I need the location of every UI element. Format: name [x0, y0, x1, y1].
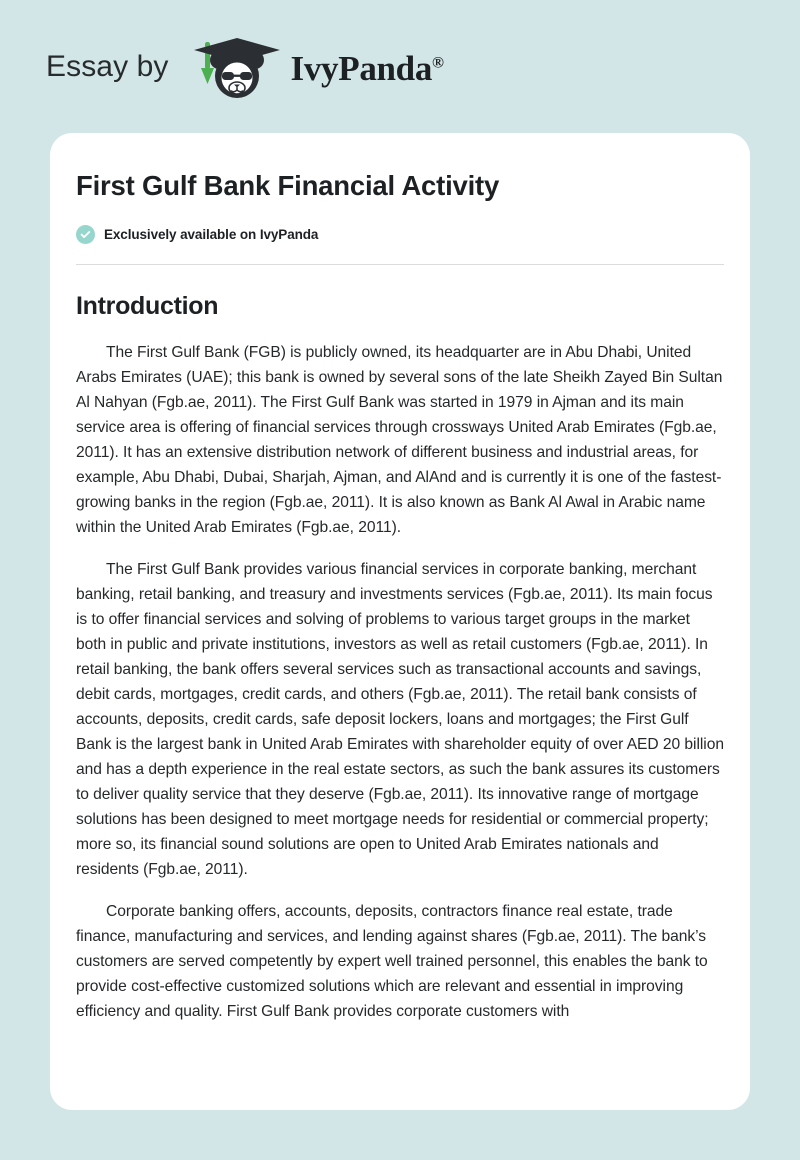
ivypanda-logo[interactable]: IvyPanda® [185, 34, 444, 100]
exclusive-availability-label: Exclusively available on IvyPanda [104, 227, 318, 242]
essay-by-label: Essay by [46, 52, 169, 82]
section-heading-introduction: Introduction [76, 291, 724, 321]
ivypanda-wordmark: IvyPanda® [291, 51, 444, 86]
essay-body: The First Gulf Bank (FGB) is publicly ow… [76, 340, 724, 1024]
header-divider [76, 264, 724, 265]
paragraph: The First Gulf Bank (FGB) is publicly ow… [76, 340, 724, 540]
registered-trademark-symbol: ® [432, 54, 444, 71]
paragraph: Corporate banking offers, accounts, depo… [76, 899, 724, 1024]
paragraph: The First Gulf Bank provides various fin… [76, 557, 724, 882]
page-title: First Gulf Bank Financial Activity [76, 169, 724, 203]
essay-paper-card: First Gulf Bank Financial Activity Exclu… [50, 133, 750, 1110]
exclusive-availability-badge: Exclusively available on IvyPanda [76, 225, 724, 244]
brand-name-text: IvyPanda [291, 49, 433, 88]
panda-graduate-icon [185, 34, 289, 100]
brand-header: Essay by [0, 0, 800, 133]
check-circle-icon [76, 225, 95, 244]
